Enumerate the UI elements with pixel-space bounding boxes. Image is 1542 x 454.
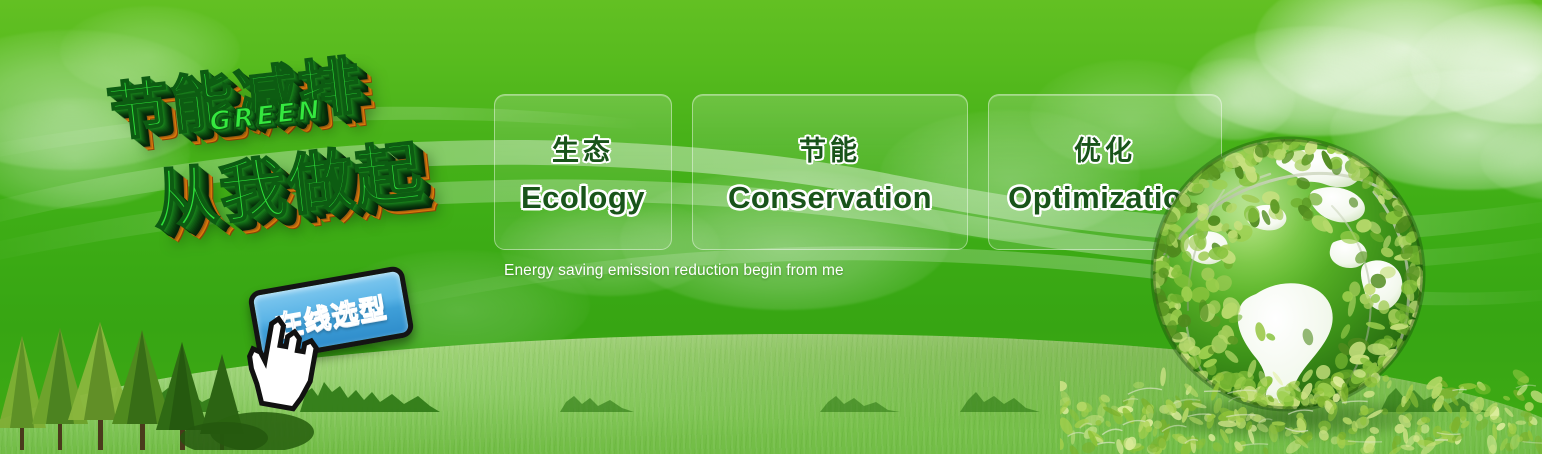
feature-card-cn-label: 节能: [799, 129, 861, 168]
headline-line-bottom: 从我做起: [146, 118, 427, 244]
page-title: 节能减排 GREEN 从我做起: [84, 14, 509, 298]
feature-card-cn-label: 生态: [552, 129, 614, 168]
banner-tagline: Energy saving emission reduction begin f…: [504, 262, 844, 280]
feature-card-en-label: Conservation: [728, 180, 932, 216]
cloud-icon: [60, 6, 240, 96]
headline-line-top: 节能减排: [102, 34, 367, 152]
online-selection-button[interactable]: 在线选型: [247, 265, 415, 363]
cloud-icon: [1410, 4, 1542, 124]
headline-line-middle: GREEN: [208, 95, 324, 138]
cloud-icon: [1255, 0, 1542, 116]
cloud-icon: [0, 98, 190, 208]
online-selection-button-wrapper[interactable]: 在线选型: [247, 265, 415, 363]
eco-promo-banner: 节能减排 GREEN 从我做起 在线选型 生态 Ecology 节能 Conse…: [0, 0, 1542, 454]
feature-card-en-label: Ecology: [521, 180, 645, 216]
feature-card-conservation[interactable]: 节能 Conservation: [692, 94, 968, 250]
online-selection-button-label: 在线选型: [272, 285, 389, 343]
cloud-icon: [0, 30, 220, 170]
feature-card-cn-label: 优化: [1074, 129, 1136, 168]
feature-card-ecology[interactable]: 生态 Ecology: [494, 94, 672, 250]
cloud-icon: [1480, 120, 1542, 200]
leafy-earth-globe-icon: [1128, 114, 1448, 434]
globe-graphic: [1128, 114, 1448, 434]
feature-card-list: 生态 Ecology 节能 Conservation 优化 Optimizati…: [494, 94, 1222, 250]
